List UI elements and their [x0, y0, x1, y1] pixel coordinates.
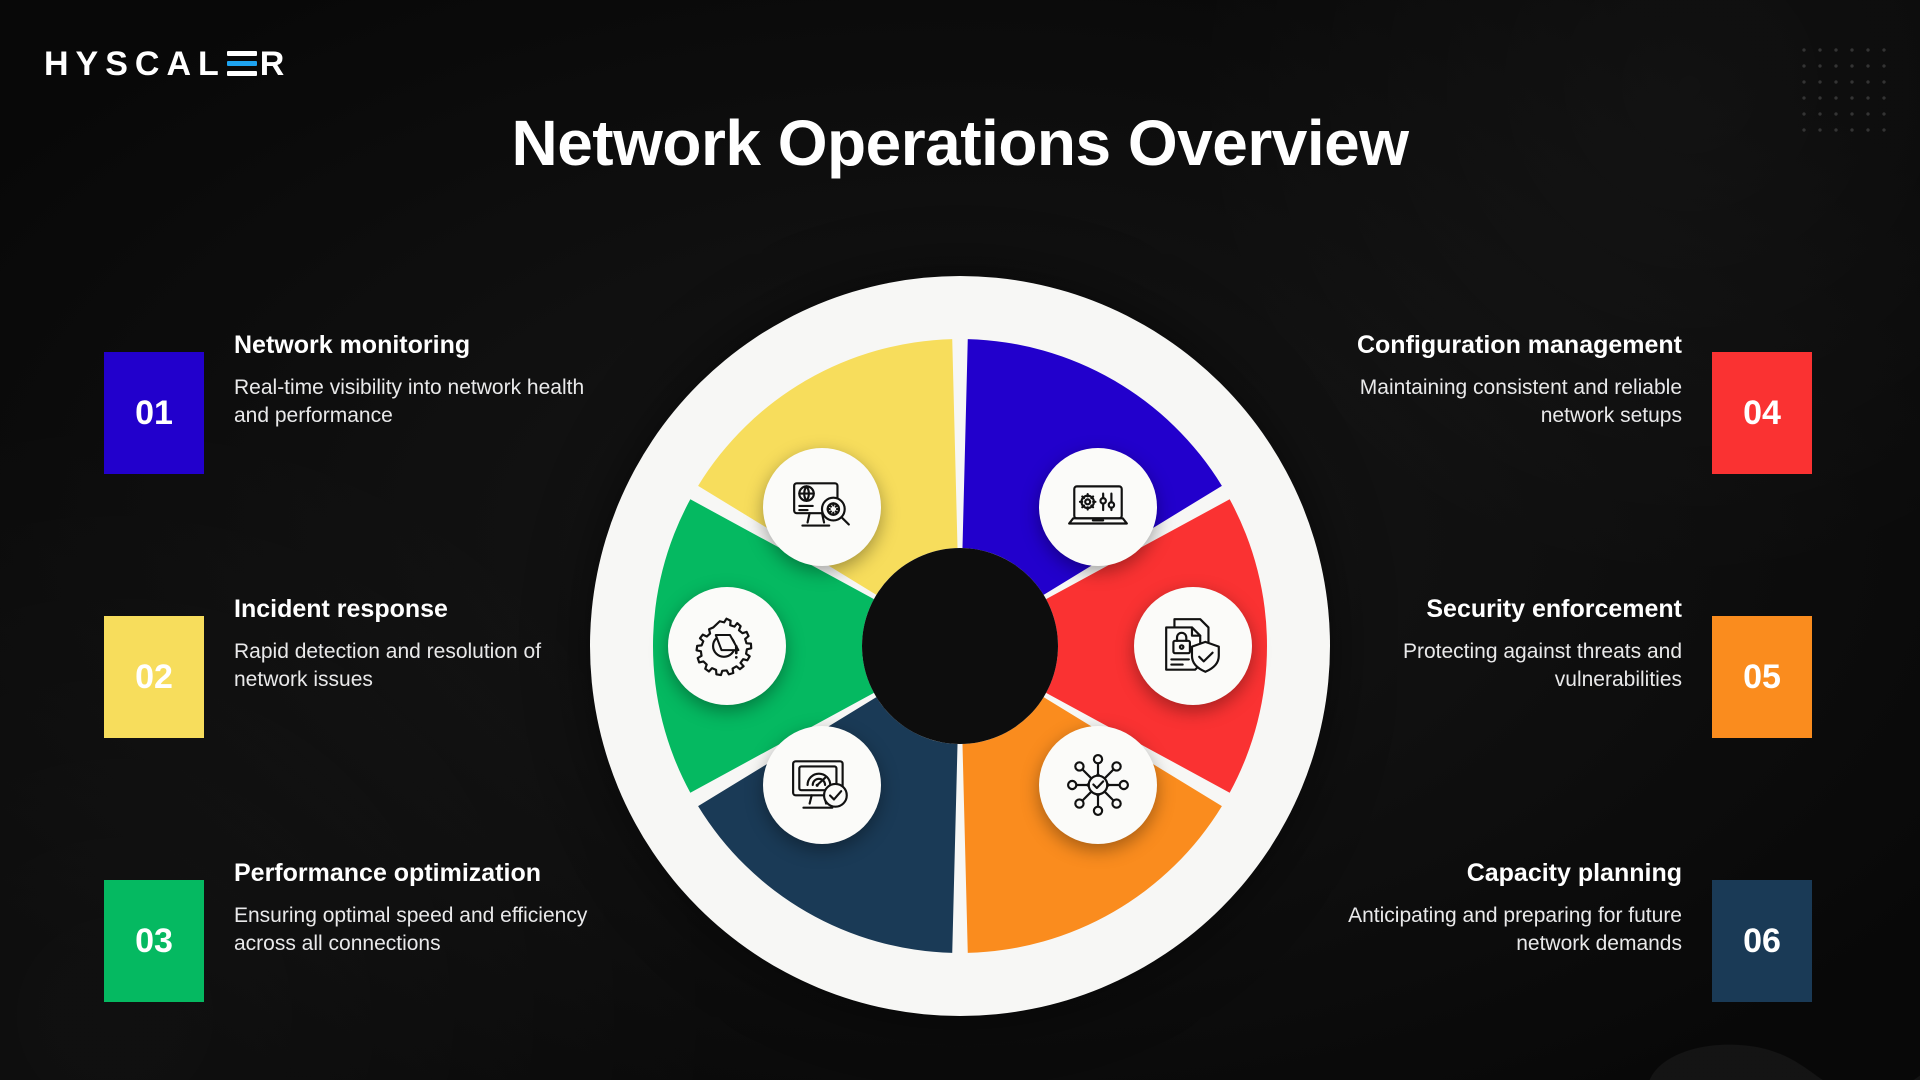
number-label: 01 [135, 394, 173, 433]
number-badge-06: 06 [1712, 880, 1812, 1002]
list-item[interactable]: 04 Configuration management Maintaining … [1292, 330, 1812, 498]
logo-e-glyph-icon [227, 49, 257, 79]
item-text-block: Incident response Rapid detection and re… [234, 594, 606, 694]
network-nodes-check-icon [1065, 752, 1131, 818]
left-items-column: 01 Network monitoring Real-time visibili… [104, 330, 624, 1026]
list-item[interactable]: 05 Security enforcement Protecting again… [1292, 594, 1812, 762]
item-description: Rapid detection and resolution of networ… [234, 638, 606, 694]
item-title: Capacity planning [1310, 858, 1682, 888]
segment-icon-capacity-planning[interactable] [1039, 726, 1157, 844]
number-badge-05: 05 [1712, 616, 1812, 738]
brand-logo[interactable]: HYSCALR [44, 42, 291, 86]
number-label: 03 [135, 922, 173, 961]
monitor-speedometer-check-icon [789, 752, 855, 818]
item-title: Configuration management [1310, 330, 1682, 360]
item-description: Real-time visibility into network health… [234, 374, 606, 430]
list-item[interactable]: 01 Network monitoring Real-time visibili… [104, 330, 624, 498]
list-item[interactable]: 02 Incident response Rapid detection and… [104, 594, 624, 762]
segment-icon-security-enforcement[interactable] [1134, 587, 1252, 705]
brand-name-part2: R [260, 45, 292, 83]
laptop-gear-sliders-icon [1065, 474, 1131, 540]
right-items-column: 04 Configuration management Maintaining … [1292, 330, 1812, 1026]
number-badge-03: 03 [104, 880, 204, 1002]
item-description: Ensuring optimal speed and efficiency ac… [234, 902, 606, 958]
number-badge-01: 01 [104, 352, 204, 474]
item-text-block: Network monitoring Real-time visibility … [234, 330, 606, 430]
donut-center-hub [862, 548, 1058, 744]
item-text-block: Security enforcement Protecting against … [1310, 594, 1682, 694]
number-label: 05 [1743, 658, 1781, 697]
item-description: Anticipating and preparing for future ne… [1310, 902, 1682, 958]
item-text-block: Configuration management Maintaining con… [1310, 330, 1682, 430]
item-title: Incident response [234, 594, 606, 624]
list-item[interactable]: 06 Capacity planning Anticipating and pr… [1292, 858, 1812, 1026]
monitor-globe-search-icon [789, 474, 855, 540]
segment-icon-incident-response[interactable] [668, 587, 786, 705]
number-badge-02: 02 [104, 616, 204, 738]
brand-name-part1: HYSCAL [44, 45, 226, 83]
number-label: 06 [1743, 922, 1781, 961]
item-title: Performance optimization [234, 858, 606, 888]
item-description: Protecting against threats and vulnerabi… [1310, 638, 1682, 694]
item-title: Network monitoring [234, 330, 606, 360]
segment-icon-configuration-management[interactable] [1039, 448, 1157, 566]
number-badge-04: 04 [1712, 352, 1812, 474]
page-title: Network Operations Overview [0, 106, 1920, 180]
document-lock-shield-icon [1160, 613, 1226, 679]
donut-chart [590, 276, 1330, 1016]
item-title: Security enforcement [1310, 594, 1682, 624]
segment-icon-network-monitoring[interactable] [763, 448, 881, 566]
item-text-block: Capacity planning Anticipating and prepa… [1310, 858, 1682, 958]
item-description: Maintaining consistent and reliable netw… [1310, 374, 1682, 430]
segment-icon-performance-optimization[interactable] [763, 726, 881, 844]
brand-logo-text: HYSCALR [44, 47, 291, 81]
list-item[interactable]: 03 Performance optimization Ensuring opt… [104, 858, 624, 1026]
number-label: 02 [135, 658, 173, 697]
item-text-block: Performance optimization Ensuring optima… [234, 858, 606, 958]
number-label: 04 [1743, 394, 1781, 433]
gear-warning-icon [694, 613, 760, 679]
